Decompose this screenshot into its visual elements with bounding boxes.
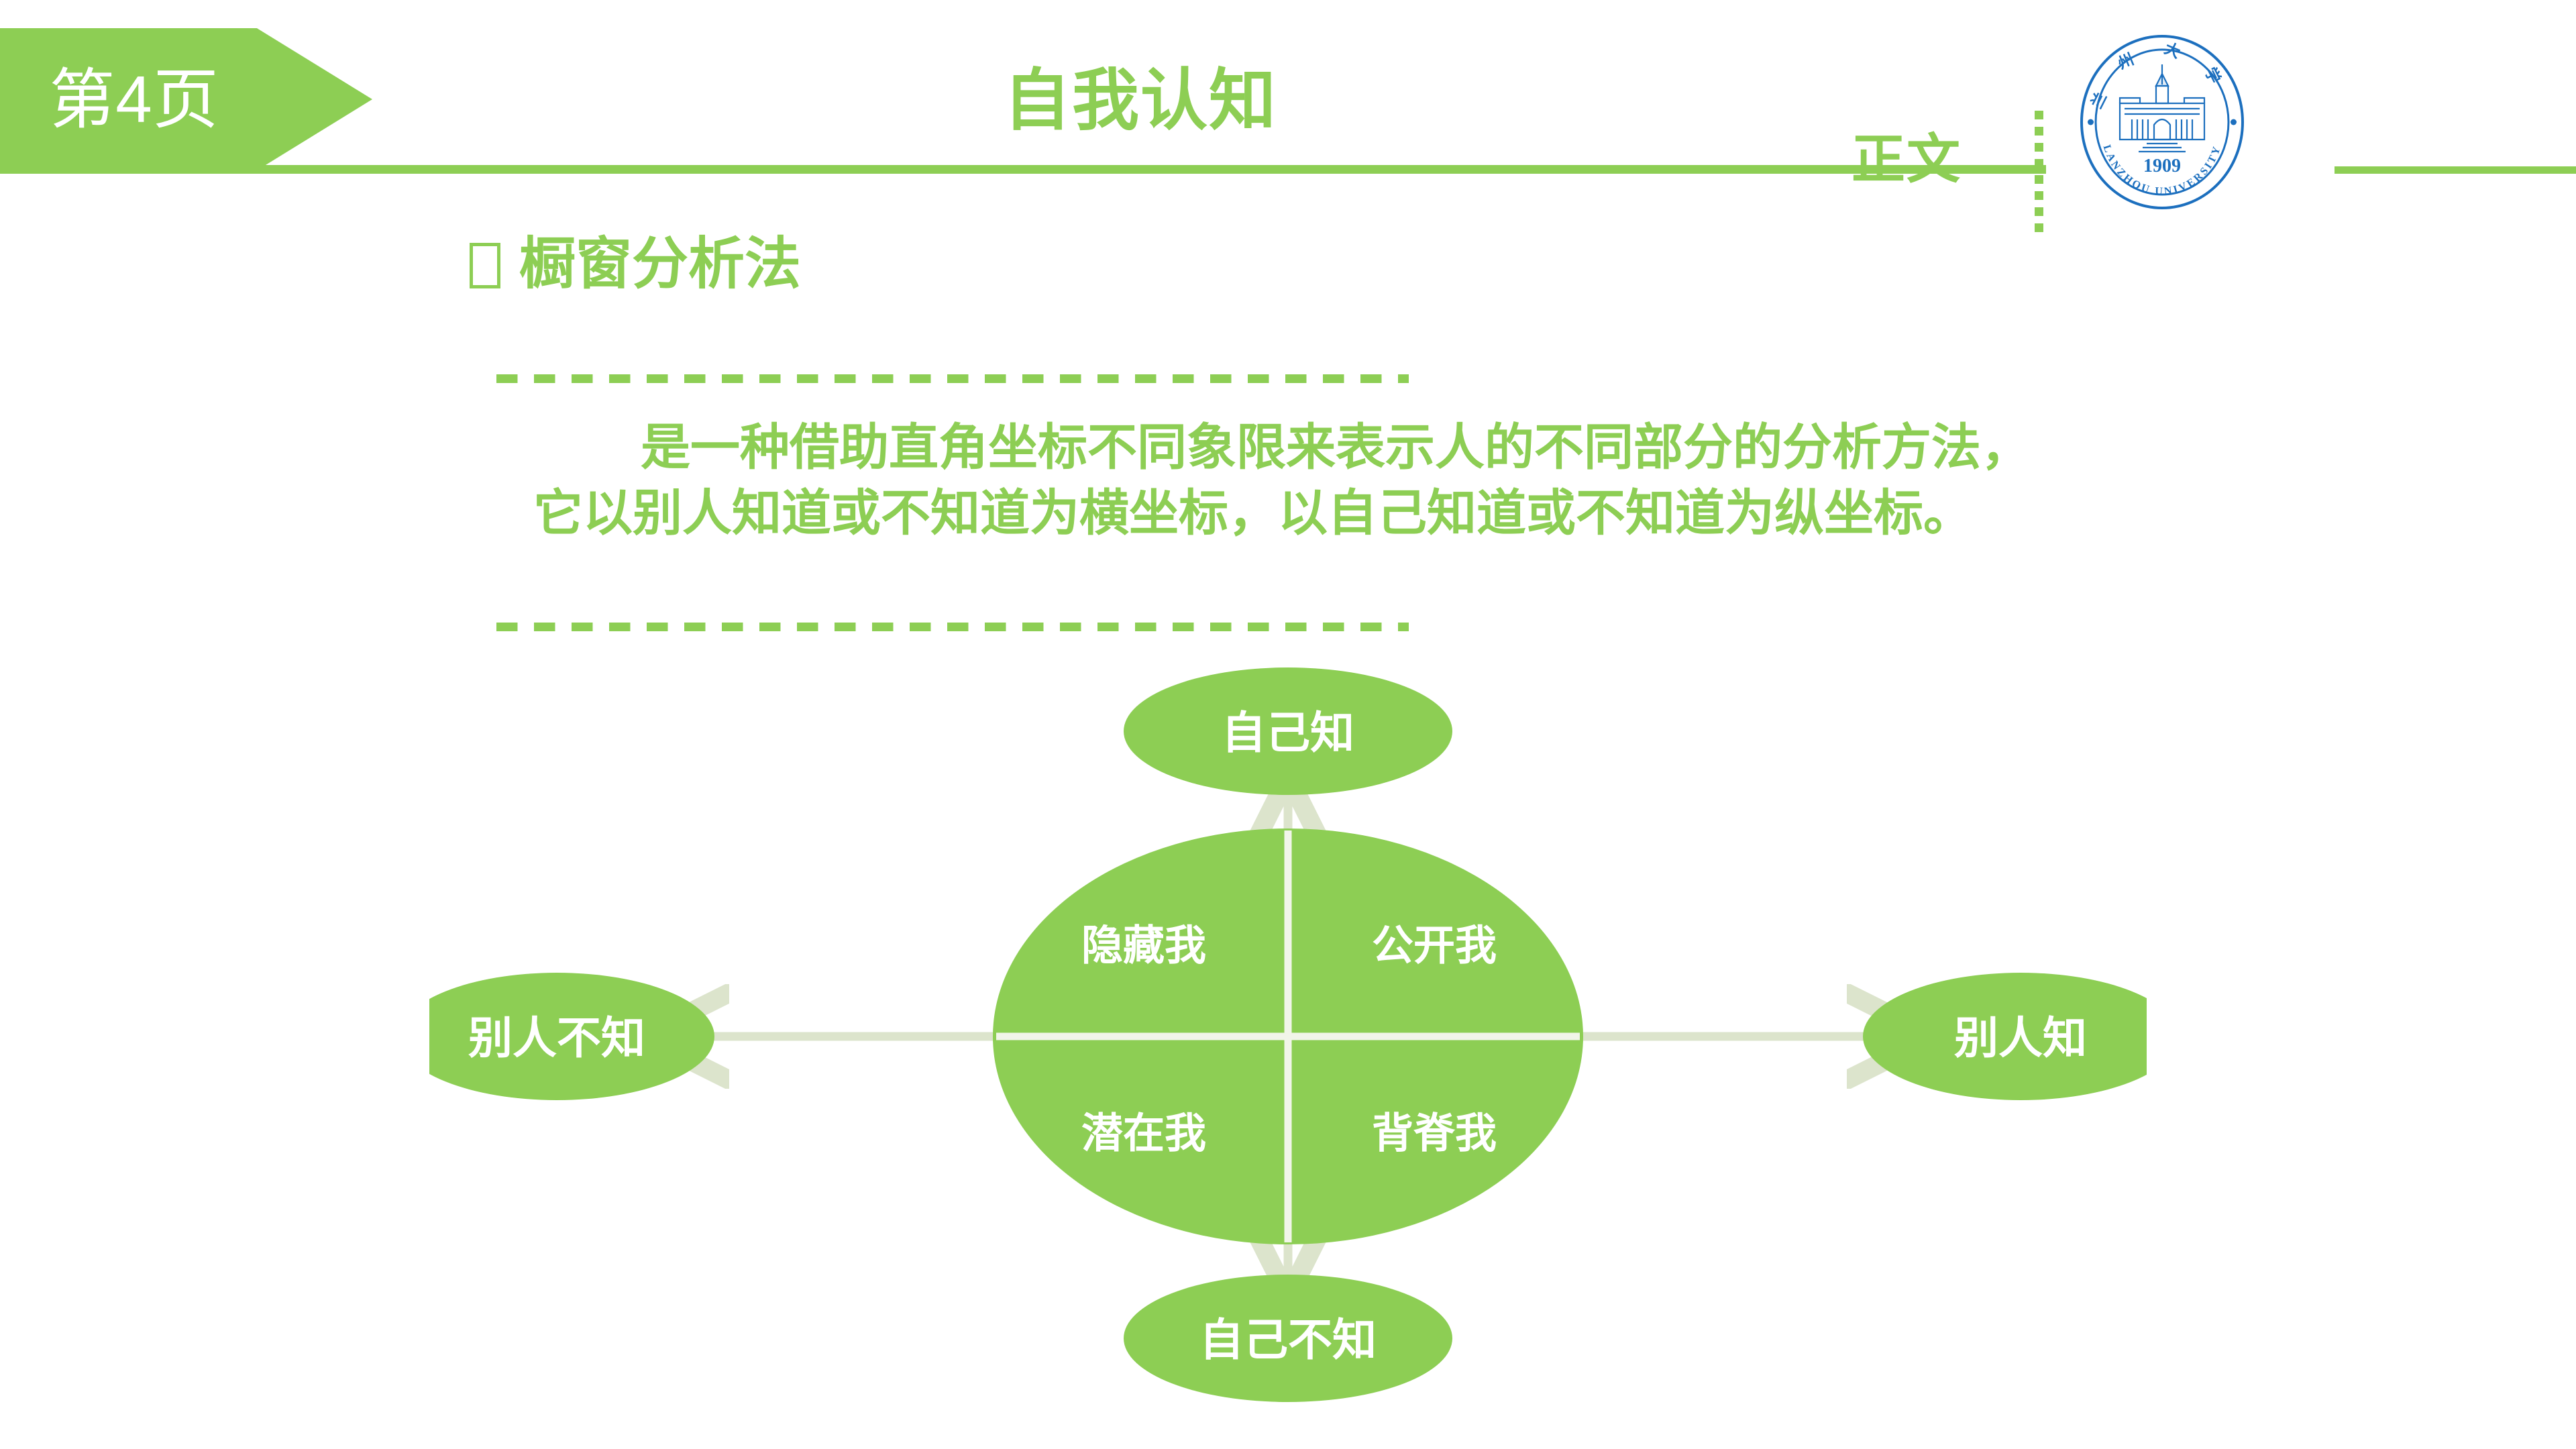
johari-window-diagram: 隐藏我 公开我 潜在我 背脊我 自己知 自己不知 别人不知 别人知 xyxy=(429,664,2147,1409)
page-title: 自我认知 xyxy=(805,67,1476,134)
quadrant-label-top-left: 隐藏我 xyxy=(1081,923,1206,969)
axis-label-left: 别人不知 xyxy=(468,1013,645,1063)
bullet-box-icon xyxy=(470,243,500,288)
header-rule-left xyxy=(0,165,2046,174)
body-paragraph: 是一种借助直角坐标不同象限来表示人的不同部分的分析方法，它以别人知道或不知道为横… xyxy=(533,415,2056,547)
quadrant-label-top-right: 公开我 xyxy=(1372,923,1497,969)
lanzhou-university-logo: 1909 兰州大学 LANZHOU UNIVERSITY xyxy=(2078,34,2246,211)
logo-year: 1909 xyxy=(2143,156,2181,176)
section-tag: 正文 xyxy=(1851,133,1962,186)
axis-label-right: 别人知 xyxy=(1954,1013,2087,1063)
quadrant-label-bottom-left: 潜在我 xyxy=(1081,1111,1206,1157)
section-subtitle-text: 橱窗分析法 xyxy=(519,232,801,295)
quadrant-label-bottom-right: 背脊我 xyxy=(1372,1111,1497,1157)
dotted-divider xyxy=(2035,111,2043,235)
dashed-rule-bottom xyxy=(496,623,1409,631)
dashed-rule-top xyxy=(496,374,1409,383)
section-subtitle: 橱窗分析法 xyxy=(470,231,801,297)
axis-label-top: 自己知 xyxy=(1222,708,1354,757)
page-number-label: 第4页 xyxy=(0,28,268,170)
slide-canvas: 第4页 自我认知 正文 xyxy=(0,0,2576,1449)
logo-seal-icon: 1909 兰州大学 LANZHOU UNIVERSITY xyxy=(2078,34,2246,211)
header-rule-right xyxy=(2334,166,2576,174)
axis-label-bottom: 自己不知 xyxy=(1199,1315,1377,1364)
